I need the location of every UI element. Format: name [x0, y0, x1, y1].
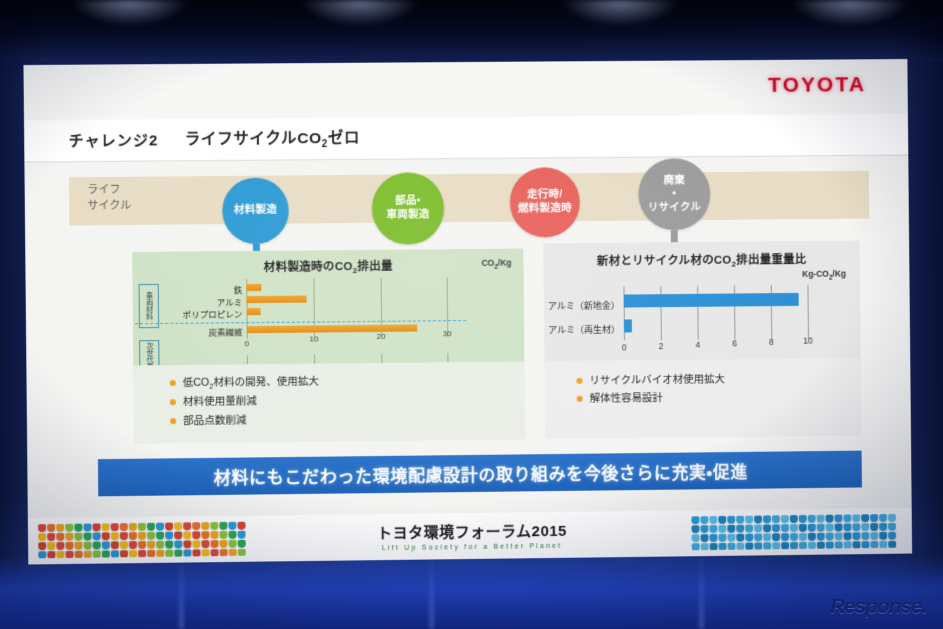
right-chart-unit: Kg-CO2/Kg: [802, 269, 846, 282]
eco-icon: [709, 525, 717, 533]
eco-icon: [870, 532, 878, 540]
eco-icon: [826, 524, 834, 532]
eco-icon: [736, 534, 744, 542]
eco-icon: [65, 533, 73, 541]
eco-icon: [120, 541, 128, 549]
eco-icon: [92, 523, 100, 531]
eco-icon: [165, 541, 173, 549]
eco-icon: [220, 540, 228, 548]
eco-icon: [736, 516, 744, 524]
cat-label-iron: 鉄: [156, 284, 243, 297]
eco-icon: [47, 542, 55, 550]
forum-title: トヨタ環境フォーラム2015: [377, 520, 567, 543]
eco-icon: [718, 516, 726, 524]
xtick-4: 4: [688, 340, 708, 350]
eco-icon: [183, 522, 191, 530]
auditorium-stage: TOYOTA チャレンジ2 ライフサイクルCO2ゼロ ライフサイクル 材料製造 …: [0, 0, 943, 629]
eco-icon: [238, 540, 246, 548]
eco-icon: [111, 550, 119, 558]
eco-icon: [83, 533, 91, 541]
eco-icon: [129, 541, 137, 549]
eco-icon: [111, 532, 119, 540]
eco-icon: [201, 522, 209, 530]
eco-icon: [201, 540, 209, 548]
eco-icon: [763, 515, 771, 523]
eco-icon: [192, 540, 200, 548]
eco-icon: [75, 551, 83, 559]
eco-icon: [183, 531, 191, 539]
eco-icon: [219, 522, 227, 530]
eco-icon: [56, 533, 64, 541]
bullet-dot-icon: [170, 380, 176, 386]
bullet-dot-icon: [577, 396, 583, 402]
eco-icon: [201, 531, 209, 539]
eco-icon: [165, 523, 173, 531]
eco-icon: [65, 542, 73, 550]
eco-icon: [56, 551, 64, 558]
eco-icon: [38, 533, 46, 541]
eco-icon: [183, 540, 191, 548]
xtick-10: 10: [304, 334, 324, 343]
lifecycle-stage-disposal-recycle[interactable]: 廃棄・リサイクル: [638, 158, 710, 230]
eco-icon: [736, 543, 744, 551]
bar-iron: [246, 284, 261, 291]
eco-icon: [56, 524, 64, 532]
eco-icon: [65, 524, 73, 532]
lifecycle-stage-material-production[interactable]: 材料製造: [222, 177, 289, 244]
gridline-10: [807, 285, 809, 339]
toyota-logo: TOYOTA: [768, 73, 866, 98]
eco-icon: [781, 542, 789, 550]
ceiling-light-1: [70, 0, 190, 26]
chart-recycled-vs-new: アルミ（新地金） アルミ（再生材） 0 2 4 6 8 10: [544, 284, 861, 367]
eco-icon: [83, 524, 91, 532]
eco-icon: [156, 532, 164, 540]
eco-icon: [102, 550, 110, 558]
bullet-dot-icon: [170, 400, 176, 406]
eco-icon: [754, 524, 762, 532]
eco-icon: [817, 515, 825, 523]
eco-icon: [835, 524, 843, 532]
eco-icon: [826, 515, 834, 523]
eco-icon: [808, 542, 816, 550]
eco-icon: [700, 516, 708, 524]
eco-icon: [763, 524, 771, 532]
eco-icon: [174, 550, 182, 558]
floor-reflection-3: [700, 555, 703, 629]
bullet-label: リサイクルバイオ材使用拡大: [589, 373, 725, 388]
eco-icon: [147, 532, 155, 540]
eco-icon-strip-right: [691, 514, 902, 550]
xtick-30: 30: [437, 329, 457, 338]
eco-icon: [834, 515, 842, 523]
summary-banner: 材料にもこだわった環境配慮設計の取り組みを今後さらに充実・促進: [98, 451, 862, 497]
eco-icon: [745, 516, 753, 524]
eco-icon: [120, 550, 128, 558]
list-item: 部品点数削減: [170, 413, 319, 428]
eco-icon: [790, 542, 798, 550]
list-item: 低CO2材料の開発、使用拡大: [170, 376, 319, 392]
eco-icon: [709, 516, 717, 524]
eco-icon: [74, 524, 82, 532]
response-watermark: Response.: [830, 596, 927, 619]
eco-icon: [93, 551, 101, 559]
eco-icon: [709, 534, 717, 542]
eco-icon: [38, 542, 46, 550]
eco-icon: [736, 525, 744, 533]
eco-icon: [844, 532, 852, 540]
eco-icon: [745, 525, 753, 533]
eco-icon: [56, 542, 64, 550]
eco-icon: [183, 549, 191, 557]
forum-logo: トヨタ環境フォーラム2015 Lift Up Society for a Bet…: [377, 520, 567, 552]
eco-icon: [47, 551, 55, 558]
eco-icon: [727, 543, 735, 551]
eco-icon: [826, 542, 834, 550]
cat-label-aluminum-new-ingot: アルミ（新地金）: [548, 299, 620, 313]
eco-icon: [835, 532, 843, 540]
eco-icon: [156, 550, 164, 558]
eco-icon: [772, 524, 780, 532]
lifecycle-stage-label: 走行時/燃料製造時: [518, 189, 572, 217]
bar-aluminum: [246, 296, 306, 304]
eco-icon: [843, 514, 851, 522]
eco-icon: [219, 531, 227, 539]
eco-icon: [817, 533, 825, 541]
cat-label-aluminum-recycled: アルミ（再生材）: [548, 323, 620, 337]
eco-icon: [228, 522, 236, 530]
eco-icon: [817, 542, 825, 550]
eco-icon: [727, 525, 735, 533]
left-notes-panel: 低CO2材料の開発、使用拡大 材料使用量削減 部品点数削減: [133, 361, 525, 443]
ceiling-light-3: [560, 0, 680, 26]
bar-carbon-fiber: [247, 325, 418, 334]
eco-icon: [719, 543, 727, 550]
eco-icon: [201, 549, 209, 557]
eco-icon: [853, 541, 861, 549]
eco-icon: [174, 531, 182, 539]
eco-icon: [718, 525, 726, 533]
eco-icon: [888, 514, 896, 522]
eco-icon: [38, 551, 46, 558]
eco-icon: [138, 532, 146, 540]
eco-icon: [192, 531, 200, 539]
eco-icon: [147, 541, 155, 549]
eco-icon: [84, 542, 92, 550]
eco-icon: [799, 542, 807, 550]
eco-icon: [808, 524, 816, 532]
eco-icon: [861, 541, 869, 549]
summary-banner-text: 材料にもこだわった環境配慮設計の取り組みを今後さらに充実・促進: [214, 458, 748, 489]
eco-icon: [74, 542, 82, 550]
eco-icon: [861, 523, 869, 531]
bullet-dot-icon: [577, 378, 583, 384]
eco-icon: [727, 534, 735, 542]
xtick-0: 0: [237, 339, 257, 348]
bullet-label: 解体性容易設計: [590, 392, 663, 406]
eco-icon: [120, 532, 128, 540]
floor-reflection-2: [430, 555, 433, 629]
floor-reflection-1: [180, 555, 183, 629]
eco-icon: [156, 523, 164, 531]
eco-icon: [129, 523, 137, 531]
xtick-20: 20: [371, 332, 391, 341]
eco-icon: [826, 533, 834, 541]
eco-icon: [165, 550, 173, 558]
lifecycle-stage-label: 廃棄・リサイクル: [648, 174, 702, 215]
eco-icon: [799, 533, 807, 541]
xtick-6: 6: [725, 338, 745, 348]
eco-icon: [111, 523, 119, 531]
cat-label-aluminum: アルミ: [156, 296, 243, 309]
eco-icon: [879, 514, 887, 522]
eco-icon: [102, 523, 110, 531]
lifecycle-stage-list: 材料製造 部品・車両製造 走行時/燃料製造時 廃棄・リサイクル: [24, 155, 909, 248]
eco-icon: [129, 550, 137, 558]
eco-icon: [808, 533, 816, 541]
eco-icon: [147, 523, 155, 531]
eco-icon: [701, 534, 709, 542]
cat-label-polypropylene: ポリプロピレン: [146, 308, 243, 321]
list-item: 解体性容易設計: [577, 391, 725, 406]
eco-icon: [138, 523, 146, 531]
eco-icon: [772, 542, 780, 550]
eco-icon: [102, 541, 110, 549]
eco-icon: [870, 523, 878, 531]
eco-icon: [147, 550, 155, 558]
eco-icon: [843, 523, 851, 531]
eco-icon: [817, 524, 825, 532]
eco-icon: [835, 541, 843, 549]
eco-icon: [727, 516, 735, 524]
ceiling-light-2: [300, 0, 420, 26]
page-title: ライフサイクルCO2ゼロ: [185, 126, 361, 151]
eco-icon: [799, 524, 807, 532]
eco-icon: [745, 543, 753, 551]
xtick-0: 0: [614, 342, 634, 352]
lifecycle-stage-label: 材料製造: [234, 204, 278, 218]
eco-icon: [888, 523, 896, 531]
eco-icon: [210, 540, 218, 548]
eco-icon: [692, 534, 700, 542]
cat-label-carbon-fiber: 炭素繊維: [156, 326, 243, 339]
bar-aluminum-recycled: [624, 319, 632, 332]
lifecycle-stage-driving-fuel[interactable]: 走行時/燃料製造時: [510, 167, 581, 238]
eco-icon: [129, 532, 137, 540]
eco-icon: [763, 533, 771, 541]
xtick-10: 10: [798, 336, 818, 346]
eco-icon: [870, 514, 878, 522]
eco-icon: [790, 515, 798, 523]
eco-icon: [692, 543, 700, 550]
eco-icon: [174, 541, 182, 549]
eco-icon: [47, 533, 55, 541]
eco-icon: [888, 541, 896, 549]
eco-icon: [790, 524, 798, 532]
xtick-2: 2: [651, 341, 671, 351]
eco-icon: [228, 531, 236, 539]
chart-material-co2-upper: 鉄 アルミ ポリプロピレン 炭素繊維 0 10 20 30: [132, 249, 524, 363]
eco-icon: [799, 515, 807, 523]
bar-aluminum-new-ingot: [624, 293, 799, 308]
eco-icon: [93, 532, 101, 540]
eco-icon: [111, 541, 119, 549]
eco-icon: [861, 532, 869, 540]
eco-icon: [210, 522, 218, 530]
forum-subtitle: Lift Up Society for a Better Planet: [377, 543, 567, 552]
eco-icon: [718, 534, 726, 542]
eco-icon: [220, 549, 228, 557]
eco-icon: [229, 540, 237, 548]
eco-icon: [192, 549, 200, 557]
eco-icon: [691, 516, 699, 524]
eco-icon: [210, 531, 218, 539]
eco-icon: [754, 533, 762, 541]
eco-icon: [745, 534, 753, 542]
eco-icon: [84, 551, 92, 559]
eco-icon: [852, 532, 860, 540]
eco-icon: [66, 551, 74, 558]
left-bullet-list: 低CO2材料の開発、使用拡大 材料使用量削減 部品点数削減: [170, 376, 320, 433]
bullet-dot-icon: [170, 418, 176, 424]
eco-icon: [781, 524, 789, 532]
list-item: 材料使用量削減: [170, 395, 319, 410]
eco-icon-strip-left: [38, 522, 252, 559]
eco-icon: [852, 523, 860, 531]
eco-icon: [174, 522, 182, 530]
eco-icon: [237, 522, 245, 530]
right-bullet-list: リサイクルバイオ材使用拡大 解体性容易設計: [576, 373, 725, 411]
eco-icon: [772, 515, 780, 523]
eco-icon: [763, 542, 771, 550]
eco-icon: [852, 514, 860, 522]
eco-icon: [120, 523, 128, 531]
challenge-number: チャレンジ2: [69, 129, 159, 151]
eco-icon: [870, 541, 878, 549]
eco-icon: [861, 514, 869, 522]
eco-icon: [888, 532, 896, 540]
stage-floor: [0, 555, 943, 629]
right-chart-title: 新材とリサイクル材のCO2排出量重量比: [543, 251, 859, 271]
eco-icon: [844, 541, 852, 549]
eco-icon: [74, 533, 82, 541]
eco-icon: [138, 541, 146, 549]
eco-icon: [93, 541, 101, 549]
eco-icon: [165, 532, 173, 540]
slide-brand-band: TOYOTA: [23, 59, 907, 120]
eco-icon: [879, 523, 887, 531]
eco-icon: [238, 531, 246, 539]
presentation-slide: TOYOTA チャレンジ2 ライフサイクルCO2ゼロ ライフサイクル 材料製造 …: [23, 59, 912, 564]
eco-icon: [156, 541, 164, 549]
eco-icon: [808, 515, 816, 523]
eco-icon: [754, 542, 762, 550]
eco-icon: [879, 541, 887, 549]
bullet-label: 材料使用量削減: [183, 396, 257, 410]
eco-icon: [772, 533, 780, 541]
eco-icon: [192, 522, 200, 530]
lifecycle-stage-label: 部品・車両製造: [386, 195, 430, 223]
eco-icon: [102, 532, 110, 540]
eco-icon: [138, 550, 146, 558]
lifecycle-stage-parts-vehicle-production[interactable]: 部品・車両製造: [372, 172, 445, 245]
eco-icon: [47, 524, 55, 532]
bar-polypropylene: [246, 308, 260, 315]
eco-icon: [754, 516, 762, 524]
ceiling-light-4: [790, 0, 910, 26]
right-notes-panel: リサイクルバイオ材使用拡大 解体性容易設計: [544, 358, 861, 439]
eco-icon: [229, 549, 237, 557]
xtick-8: 8: [761, 337, 781, 347]
eco-icon: [238, 549, 246, 557]
eco-icon: [710, 543, 718, 550]
eco-icon: [701, 543, 709, 550]
bullet-label: 部品点数削減: [183, 414, 246, 428]
list-item: リサイクルバイオ材使用拡大: [576, 373, 724, 388]
eco-icon: [691, 525, 699, 533]
eco-icon: [38, 524, 46, 532]
eco-icon: [879, 532, 887, 540]
eco-icon: [700, 525, 708, 533]
eco-icon: [781, 515, 789, 523]
eco-icon: [781, 533, 789, 541]
bullet-label: 低CO2材料の開発、使用拡大: [183, 376, 319, 392]
eco-icon: [790, 533, 798, 541]
eco-icon: [211, 549, 219, 557]
